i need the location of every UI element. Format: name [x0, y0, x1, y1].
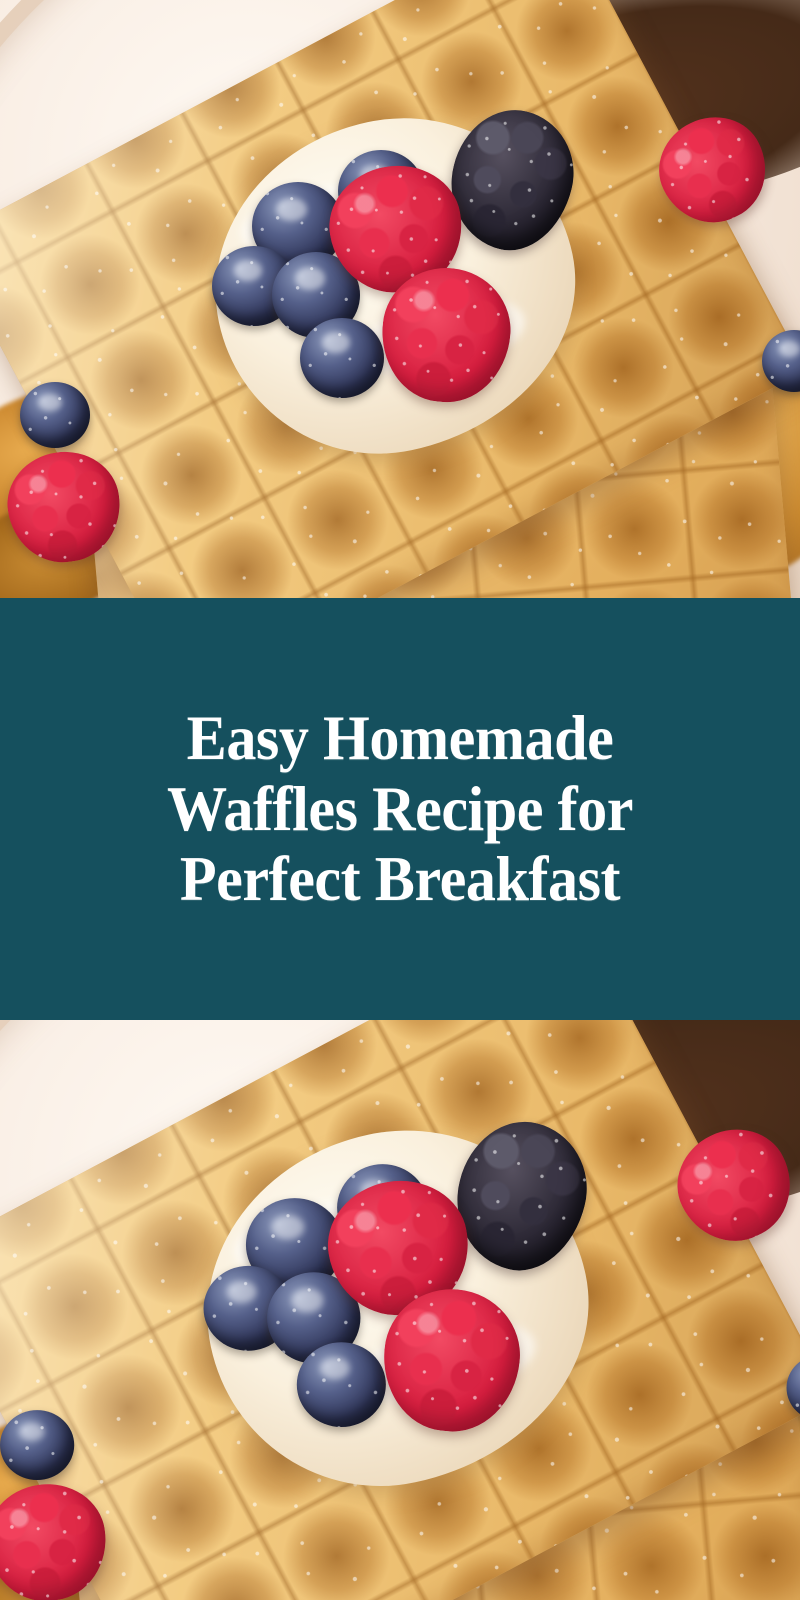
waffle-photo-bottom — [0, 1020, 800, 1600]
recipe-pin: Easy Homemade Waffles Recipe for Perfect… — [0, 0, 800, 1600]
title-banner: Easy Homemade Waffles Recipe for Perfect… — [0, 598, 800, 1020]
blueberry — [300, 318, 384, 398]
blueberry — [297, 1342, 386, 1427]
blueberry — [0, 1410, 74, 1480]
photo-scene — [0, 0, 800, 598]
waffle-photo-top — [0, 0, 800, 598]
photo-scene — [0, 1020, 800, 1600]
page-title: Easy Homemade Waffles Recipe for Perfect… — [45, 703, 756, 914]
title-line-2: Waffles Recipe for — [45, 774, 756, 844]
blueberry — [20, 382, 90, 448]
title-line-3: Perfect Breakfast — [45, 844, 756, 914]
title-line-1: Easy Homemade — [45, 703, 756, 773]
